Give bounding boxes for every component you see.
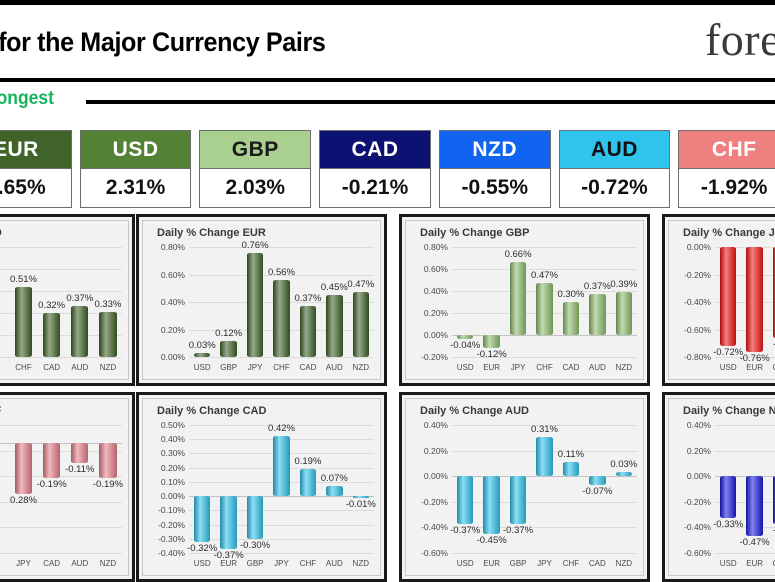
bar-value-label: 0.47%	[347, 279, 374, 290]
currency-code: GBP	[200, 131, 310, 169]
gridline	[715, 425, 775, 426]
bar-eur[interactable]	[746, 247, 762, 352]
bar-usd[interactable]	[457, 335, 473, 339]
gridline	[0, 527, 122, 528]
y-axis-tick: -0.20%	[158, 520, 185, 530]
currency-code: CHF	[679, 131, 775, 169]
x-axis-tick: AUD	[71, 559, 88, 568]
y-axis-tick: 0.80%	[424, 242, 448, 252]
bar-value-label: 0.76%	[242, 240, 269, 251]
y-axis-tick: 0.00%	[687, 242, 711, 252]
y-axis-tick: 0.50%	[161, 420, 185, 430]
x-axis-tick: CAD	[589, 559, 606, 568]
y-axis-tick: 0.00%	[424, 330, 448, 340]
y-axis-tick: 0.10%	[161, 477, 185, 487]
ranking-divider	[86, 100, 775, 104]
bar-value-label: 0.19%	[294, 456, 321, 467]
gridline	[715, 553, 775, 554]
currency-strength-ribbon: EUR2.65%USD2.31%GBP2.03%CAD-0.21%NZD-0.5…	[0, 130, 775, 208]
bar-chf[interactable]	[300, 469, 316, 496]
chart-panel-gbp[interactable]: Daily % Change GBP0.80%0.60%0.40%0.20%0.…	[399, 214, 650, 386]
chart-canvas-eur: Daily % Change EUR0.80%0.60%0.40%0.20%0.…	[142, 220, 381, 380]
bar-eur[interactable]	[483, 476, 499, 534]
x-axis-tick: AUD	[589, 363, 606, 372]
bar-aud[interactable]	[589, 294, 605, 335]
currency-change-value: -0.72%	[560, 169, 670, 207]
bar-value-label: 0.33%	[94, 299, 121, 310]
chart-canvas-nzd: Daily % Change NZD0.40%0.20%0.00%-0.20%-…	[668, 398, 775, 576]
y-axis-tick: -0.60%	[684, 325, 711, 335]
gridline	[189, 510, 374, 511]
y-axis-tick: 0.20%	[424, 308, 448, 318]
chart-canvas-gbp: Daily % Change GBP0.80%0.60%0.40%0.20%0.…	[405, 220, 644, 380]
bar-chf[interactable]	[563, 462, 579, 476]
x-axis-tick: GBP	[247, 559, 264, 568]
currency-change-value: -0.21%	[320, 169, 430, 207]
currency-card-aud[interactable]: AUD-0.72%	[559, 130, 671, 208]
x-axis-tick: GBP	[220, 363, 237, 372]
y-axis-tick: 0.40%	[687, 420, 711, 430]
bar-nzd[interactable]	[353, 292, 369, 357]
bar-usd[interactable]	[720, 247, 736, 346]
currency-card-chf[interactable]: CHF-1.92%	[678, 130, 775, 208]
gridline	[452, 553, 637, 554]
gridline	[0, 269, 122, 270]
bar-value-label: -0.76%	[740, 353, 770, 364]
bar-cad[interactable]	[589, 476, 605, 485]
bar-cad[interactable]	[300, 306, 316, 357]
page-title: e for the Major Currency Pairs	[0, 27, 325, 58]
bar-value-label: 0.11%	[558, 449, 584, 460]
x-axis-tick: USD	[194, 559, 211, 568]
bar-value-label: -0.12%	[477, 349, 507, 360]
plot-area: 0.00%-0.20%-0.40%-0.60%-0.80%USD-0.72%EU…	[715, 247, 775, 357]
y-axis-tick: -0.30%	[158, 534, 185, 544]
y-axis-tick: 0.00%	[687, 471, 711, 481]
x-axis-tick: NZD	[353, 559, 369, 568]
chart-canvas-jpy: Daily % Change JPY0.00%-0.20%-0.40%-0.60…	[668, 220, 775, 380]
bar-jpy[interactable]	[273, 436, 289, 496]
bar-value-label: 0.28%	[10, 495, 37, 506]
bar-cad[interactable]	[563, 302, 579, 335]
zero-axis-line	[452, 476, 637, 477]
bar-value-label: 0.66%	[505, 249, 532, 260]
y-axis-tick: -0.80%	[684, 352, 711, 362]
y-axis-tick: -0.20%	[684, 497, 711, 507]
gridline	[189, 247, 374, 248]
bar-gbp[interactable]	[510, 476, 526, 523]
y-axis-tick: 0.40%	[424, 286, 448, 296]
currency-code: AUD	[560, 131, 670, 169]
bar-gbp[interactable]	[220, 341, 236, 358]
x-axis-tick: USD	[720, 559, 737, 568]
x-axis-tick: CHF	[273, 363, 289, 372]
bar-value-label: -0.19%	[93, 479, 123, 490]
x-axis-tick: USD	[457, 559, 474, 568]
chart-title: Daily % Change AUD	[420, 405, 529, 417]
y-axis-tick: 0.00%	[161, 491, 185, 501]
y-axis-tick: 0.40%	[161, 297, 185, 307]
y-axis-tick: -0.40%	[684, 297, 711, 307]
bar-value-label: -0.07%	[582, 486, 612, 497]
chart-title: Daily % Change CHF	[0, 405, 1, 417]
bar-jpy[interactable]	[536, 437, 552, 477]
bar-aud[interactable]	[326, 486, 342, 496]
y-axis-tick: 0.80%	[161, 242, 185, 252]
currency-card-gbp[interactable]: GBP2.03%	[199, 130, 311, 208]
currency-code: NZD	[440, 131, 550, 169]
x-axis-tick: CHF	[536, 363, 552, 372]
ranking-row: trongest	[0, 86, 775, 122]
x-axis-tick: NZD	[616, 363, 632, 372]
y-axis-tick: -0.60%	[684, 548, 711, 558]
plot-area: 0.50%0.40%0.30%0.20%0.10%0.00%-0.10%-0.2…	[189, 425, 374, 553]
bar-value-label: -0.01%	[346, 499, 376, 510]
chart-panel-aud[interactable]: Daily % Change AUD0.40%0.20%0.00%-0.20%-…	[399, 392, 650, 582]
bar-usd[interactable]	[457, 476, 473, 523]
bar-value-label: 0.51%	[10, 274, 37, 285]
plot-area: 0.80%0.60%0.40%0.20%0.00%-0.20%USD-0.04%…	[452, 247, 637, 357]
x-axis-tick: CHF	[563, 559, 579, 568]
plot-area: 0.40%0.20%0.00%-0.20%-0.40%-0.60%USD-0.3…	[452, 425, 637, 553]
gridline	[189, 539, 374, 540]
bar-value-label: -0.11%	[65, 464, 94, 475]
bar-nzd[interactable]	[353, 496, 369, 497]
y-axis-tick: 0.00%	[161, 352, 185, 362]
currency-change-value: -0.55%	[440, 169, 550, 207]
zero-axis-line	[189, 496, 374, 497]
chart-title: Daily % Change EUR	[157, 227, 266, 239]
x-axis-tick: NZD	[100, 559, 116, 568]
y-axis-tick: -0.40%	[421, 522, 448, 532]
x-axis-tick: AUD	[326, 559, 343, 568]
x-axis-tick: CHF	[300, 559, 316, 568]
gridline	[0, 553, 122, 554]
bar-eur[interactable]	[483, 335, 499, 348]
bar-aud[interactable]	[71, 443, 88, 463]
bar-nzd[interactable]	[616, 292, 632, 335]
plot-area: 0.40%0.20%0.00%-0.20%-0.40%-0.60%USD-0.3…	[715, 425, 775, 553]
y-axis-tick: 0.60%	[161, 270, 185, 280]
bar-value-label: 0.32%	[38, 300, 65, 311]
bar-value-label: 0.42%	[268, 423, 295, 434]
bar-value-label: -0.30%	[240, 540, 270, 551]
x-axis-tick: NZD	[100, 363, 116, 372]
x-axis-tick: USD	[457, 363, 474, 372]
currency-change-value: 2.31%	[81, 169, 191, 207]
chart-panel-nzd[interactable]: Daily % Change NZD0.40%0.20%0.00%-0.20%-…	[662, 392, 775, 582]
gridline	[0, 247, 122, 248]
chart-panel-chf[interactable]: Daily % Change CHFJPY0.28%CAD-0.19%AUD-0…	[0, 392, 135, 582]
bar-value-label: 0.39%	[610, 279, 637, 290]
bar-nzd[interactable]	[616, 472, 632, 476]
bar-eur[interactable]	[220, 496, 236, 549]
x-axis-tick: JPY	[537, 559, 552, 568]
currency-change-value: 2.03%	[200, 169, 310, 207]
bar-cad[interactable]	[43, 313, 60, 357]
bar-eur[interactable]	[746, 476, 762, 536]
y-axis-tick: 0.00%	[424, 471, 448, 481]
x-axis-tick: CAD	[299, 363, 316, 372]
currency-code: USD	[81, 131, 191, 169]
x-axis-tick: CAD	[43, 559, 60, 568]
x-axis-tick: EUR	[746, 363, 763, 372]
bar-usd[interactable]	[194, 353, 210, 357]
bar-chf[interactable]	[536, 283, 552, 335]
x-axis-tick: JPY	[248, 363, 263, 372]
bar-aud[interactable]	[71, 306, 88, 357]
bar-nzd[interactable]	[99, 443, 116, 478]
bar-value-label: 0.37%	[294, 293, 321, 304]
x-axis-tick: AUD	[326, 363, 343, 372]
bar-value-label: 0.56%	[268, 267, 295, 278]
bar-value-label: 0.03%	[189, 340, 216, 351]
bar-value-label: -0.37%	[503, 525, 533, 536]
gridline	[0, 425, 122, 426]
x-axis-tick: JPY	[274, 559, 289, 568]
plot-area: 0.80%0.60%0.40%0.20%0.00%USD0.03%GBP0.12…	[189, 247, 374, 357]
chart-title: Daily % Change JPY	[683, 227, 775, 239]
x-axis-tick: AUD	[71, 363, 88, 372]
bar-chf[interactable]	[15, 287, 32, 357]
bar-nzd[interactable]	[99, 312, 116, 357]
currency-card-cad[interactable]: CAD-0.21%	[319, 130, 431, 208]
bar-value-label: 0.07%	[321, 473, 348, 484]
strongest-label: trongest	[0, 88, 54, 110]
bar-value-label: 0.47%	[531, 270, 558, 281]
bar-usd[interactable]	[194, 496, 210, 542]
currency-card-eur[interactable]: EUR2.65%	[0, 130, 72, 208]
x-axis-tick: USD	[194, 363, 211, 372]
bar-value-label: 0.30%	[557, 289, 584, 300]
x-axis-tick: CAD	[43, 363, 60, 372]
chart-panel-cad[interactable]: Daily % Change CAD0.50%0.40%0.30%0.20%0.…	[136, 392, 387, 582]
y-axis-tick: -0.20%	[421, 497, 448, 507]
chart-canvas-usd: Daily % Change USDCHF0.51%CAD0.32%AUD0.3…	[0, 220, 129, 380]
bar-value-label: 0.03%	[610, 459, 637, 470]
chart-panel-usd[interactable]: Daily % Change USDCHF0.51%CAD0.32%AUD0.3…	[0, 214, 135, 386]
y-axis-tick: -0.10%	[158, 505, 185, 515]
chart-canvas-aud: Daily % Change AUD0.40%0.20%0.00%-0.20%-…	[405, 398, 644, 576]
y-axis-tick: -0.20%	[684, 270, 711, 280]
bar-value-label: -0.19%	[37, 479, 67, 490]
x-axis-tick: CHF	[15, 363, 31, 372]
currency-card-nzd[interactable]: NZD-0.55%	[439, 130, 551, 208]
y-axis-tick: 0.20%	[687, 446, 711, 456]
currency-change-value: -1.92%	[679, 169, 775, 207]
y-axis-tick: -0.40%	[684, 522, 711, 532]
y-axis-tick: 0.20%	[161, 463, 185, 473]
y-axis-tick: 0.40%	[161, 434, 185, 444]
x-axis-tick: NZD	[616, 559, 632, 568]
x-axis-tick: EUR	[483, 559, 500, 568]
gridline	[189, 525, 374, 526]
bar-jpy[interactable]	[247, 253, 263, 358]
bar-jpy[interactable]	[15, 443, 32, 494]
plot-area: JPY0.28%CAD-0.19%AUD-0.11%NZD-0.19%	[0, 425, 122, 553]
currency-code: EUR	[0, 131, 71, 169]
y-axis-tick: 0.20%	[424, 446, 448, 456]
bar-aud[interactable]	[326, 295, 342, 357]
bar-value-label: -0.45%	[477, 535, 507, 546]
bar-value-label: 0.31%	[531, 424, 558, 435]
x-axis-tick: EUR	[483, 363, 500, 372]
chart-panel-jpy[interactable]: Daily % Change JPY0.00%-0.20%-0.40%-0.60…	[662, 214, 775, 386]
chart-title: Daily % Change CAD	[157, 405, 266, 417]
bar-value-label: -0.47%	[740, 537, 770, 548]
x-axis-tick: EUR	[746, 559, 763, 568]
chart-title: Daily % Change GBP	[420, 227, 529, 239]
gridline	[452, 502, 637, 503]
x-axis-tick: NZD	[353, 363, 369, 372]
x-axis-tick: USD	[720, 363, 737, 372]
x-axis-tick: CAD	[562, 363, 579, 372]
chart-panel-eur[interactable]: Daily % Change EUR0.80%0.60%0.40%0.20%0.…	[136, 214, 387, 386]
chart-canvas-chf: Daily % Change CHFJPY0.28%CAD-0.19%AUD-0…	[0, 398, 129, 576]
gridline	[715, 451, 775, 452]
currency-code: CAD	[320, 131, 430, 169]
chart-canvas-cad: Daily % Change CAD0.50%0.40%0.30%0.20%0.…	[142, 398, 381, 576]
brand-logo: fore	[705, 13, 775, 66]
gridline	[189, 357, 374, 358]
chart-title: Daily % Change NZD	[683, 405, 775, 417]
page-header: e for the Major Currency Pairs fore	[0, 0, 775, 82]
bar-value-label: -0.33%	[713, 519, 743, 530]
y-axis-tick: 0.30%	[161, 448, 185, 458]
bar-value-label: 0.37%	[584, 281, 611, 292]
bar-value-label: -0.37%	[214, 550, 244, 561]
bar-gbp[interactable]	[247, 496, 263, 539]
x-axis-tick: JPY	[16, 559, 31, 568]
currency-card-usd[interactable]: USD2.31%	[80, 130, 192, 208]
y-axis-tick: 0.20%	[161, 325, 185, 335]
y-axis-tick: -0.40%	[158, 548, 185, 558]
bar-value-label: 0.37%	[66, 293, 93, 304]
bar-chf[interactable]	[273, 280, 289, 357]
x-axis-tick: GBP	[510, 559, 527, 568]
y-axis-tick: 0.60%	[424, 264, 448, 274]
y-axis-tick: 0.40%	[424, 420, 448, 430]
bar-cad[interactable]	[43, 443, 60, 478]
gridline	[0, 357, 122, 358]
gridline	[452, 247, 637, 248]
bar-jpy[interactable]	[510, 262, 526, 335]
y-axis-tick: -0.60%	[421, 548, 448, 558]
bar-value-label: 0.12%	[215, 328, 242, 339]
y-axis-tick: -0.20%	[421, 352, 448, 362]
chart-title: Daily % Change USD	[0, 227, 2, 239]
currency-change-value: 2.65%	[0, 169, 71, 207]
x-axis-tick: JPY	[511, 363, 526, 372]
bar-value-label: 0.45%	[321, 282, 348, 293]
bar-usd[interactable]	[720, 476, 736, 518]
plot-area: CHF0.51%CAD0.32%AUD0.37%NZD0.33%	[0, 247, 122, 357]
zero-axis-line	[452, 335, 637, 336]
